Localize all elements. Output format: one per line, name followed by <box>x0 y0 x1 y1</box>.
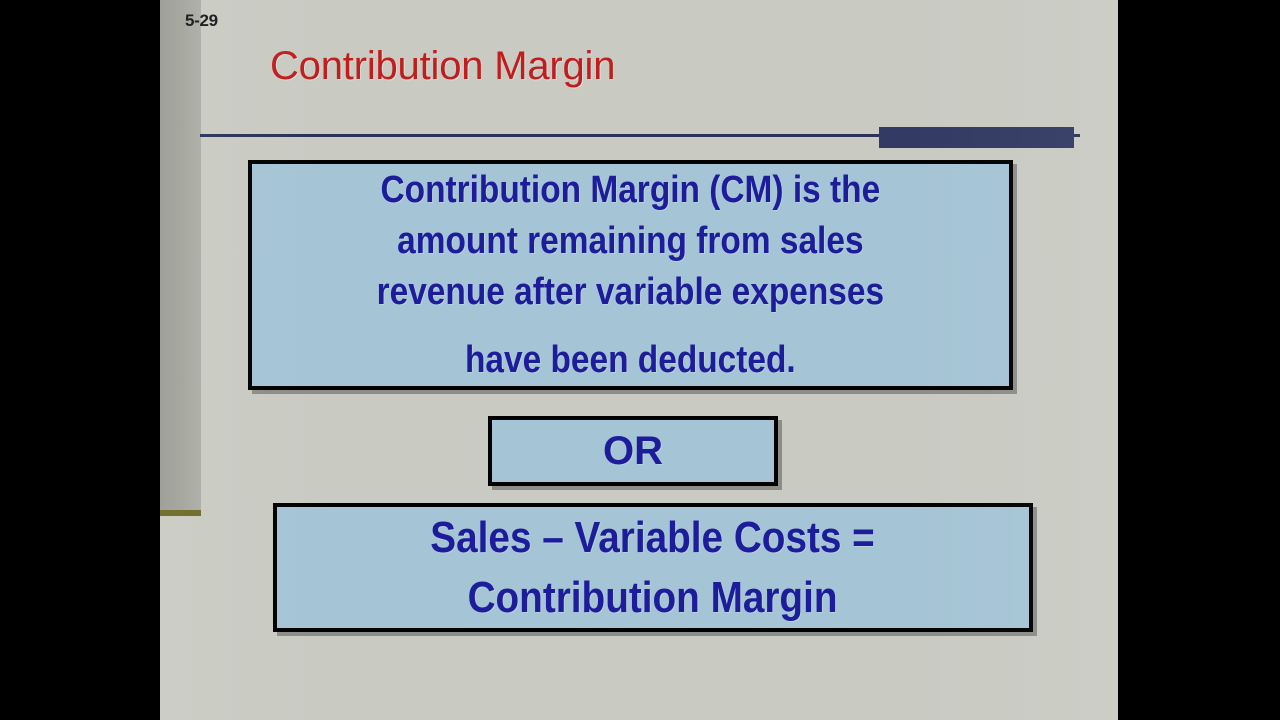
definition-text: Contribution Margin (CM) is the amount r… <box>366 165 895 386</box>
or-connector-box: OR <box>488 416 778 486</box>
definition-line-3: revenue after variable expenses <box>377 271 884 313</box>
page-title: Contribution Margin <box>270 44 615 89</box>
title-accent-tab <box>879 127 1074 148</box>
letterbox-stage: 5-29 Contribution Margin Contribution Ma… <box>0 0 1280 720</box>
left-band-accent-cap <box>160 510 201 516</box>
equation-line-2: Contribution Margin <box>468 573 838 622</box>
equation-callout-box: Sales – Variable Costs = Contribution Ma… <box>273 503 1033 632</box>
definition-line-2: amount remaining from sales <box>397 220 863 262</box>
definition-line-4: have been deducted. <box>377 335 884 386</box>
definition-line-1: Contribution Margin (CM) is the <box>381 169 881 211</box>
or-label: OR <box>603 429 663 473</box>
presentation-slide: 5-29 Contribution Margin Contribution Ma… <box>160 0 1118 720</box>
left-decorative-band <box>160 0 201 510</box>
equation-line-1: Sales – Variable Costs = <box>431 513 875 562</box>
definition-callout-box: Contribution Margin (CM) is the amount r… <box>248 160 1013 390</box>
equation-text: Sales – Variable Costs = Contribution Ma… <box>422 508 884 628</box>
slide-number: 5-29 <box>185 11 218 31</box>
